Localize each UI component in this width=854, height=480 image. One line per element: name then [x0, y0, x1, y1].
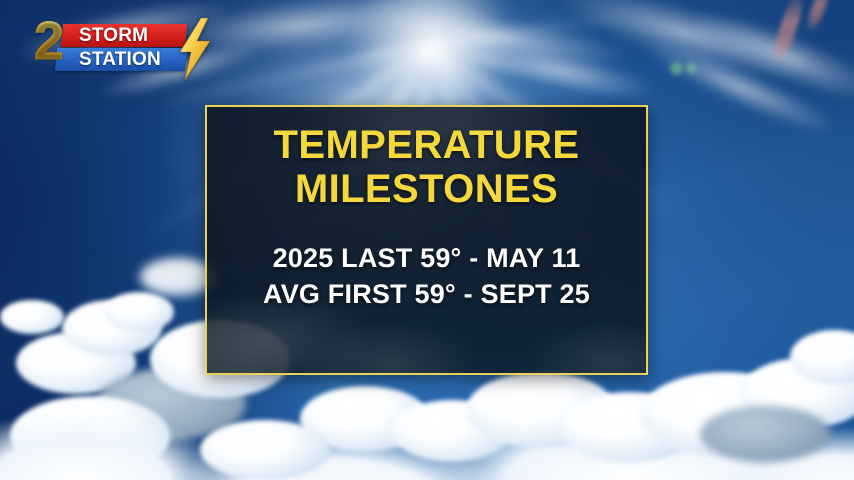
- stat-line: AVG FIRST 59° - SEPT 25: [207, 277, 646, 313]
- lens-flare-dot: [670, 62, 683, 75]
- panel-title-line-1: TEMPERATURE: [207, 123, 646, 167]
- panel-title-line-2: MILESTONES: [207, 167, 646, 211]
- stat-line: 2025 LAST 59° - MAY 11: [207, 241, 646, 277]
- logo-band-storm: STORM: [61, 24, 187, 47]
- cloud: [200, 420, 330, 480]
- logo-storm-text: STORM: [62, 25, 148, 47]
- cloud-shadow: [700, 406, 830, 462]
- logo-channel-number: 2: [34, 14, 62, 68]
- cloud: [0, 300, 64, 334]
- weather-graphic-stage: STORM STATION 2 TEMPERATURE MILESTONES: [0, 0, 854, 480]
- panel-stats: 2025 LAST 59° - MAY 11 AVG FIRST 59° - S…: [207, 241, 646, 312]
- logo-band-station: STATION: [55, 48, 187, 71]
- lightning-bolt-icon: [174, 18, 214, 80]
- panel-content: TEMPERATURE MILESTONES 2025 LAST 59° - M…: [207, 107, 646, 312]
- panel-title: TEMPERATURE MILESTONES: [207, 123, 646, 211]
- cloud: [104, 292, 174, 332]
- lens-flare-dot: [686, 63, 697, 74]
- info-panel: TEMPERATURE MILESTONES 2025 LAST 59° - M…: [205, 105, 648, 375]
- station-logo[interactable]: STORM STATION 2: [34, 16, 202, 82]
- logo-station-text: STATION: [56, 49, 161, 71]
